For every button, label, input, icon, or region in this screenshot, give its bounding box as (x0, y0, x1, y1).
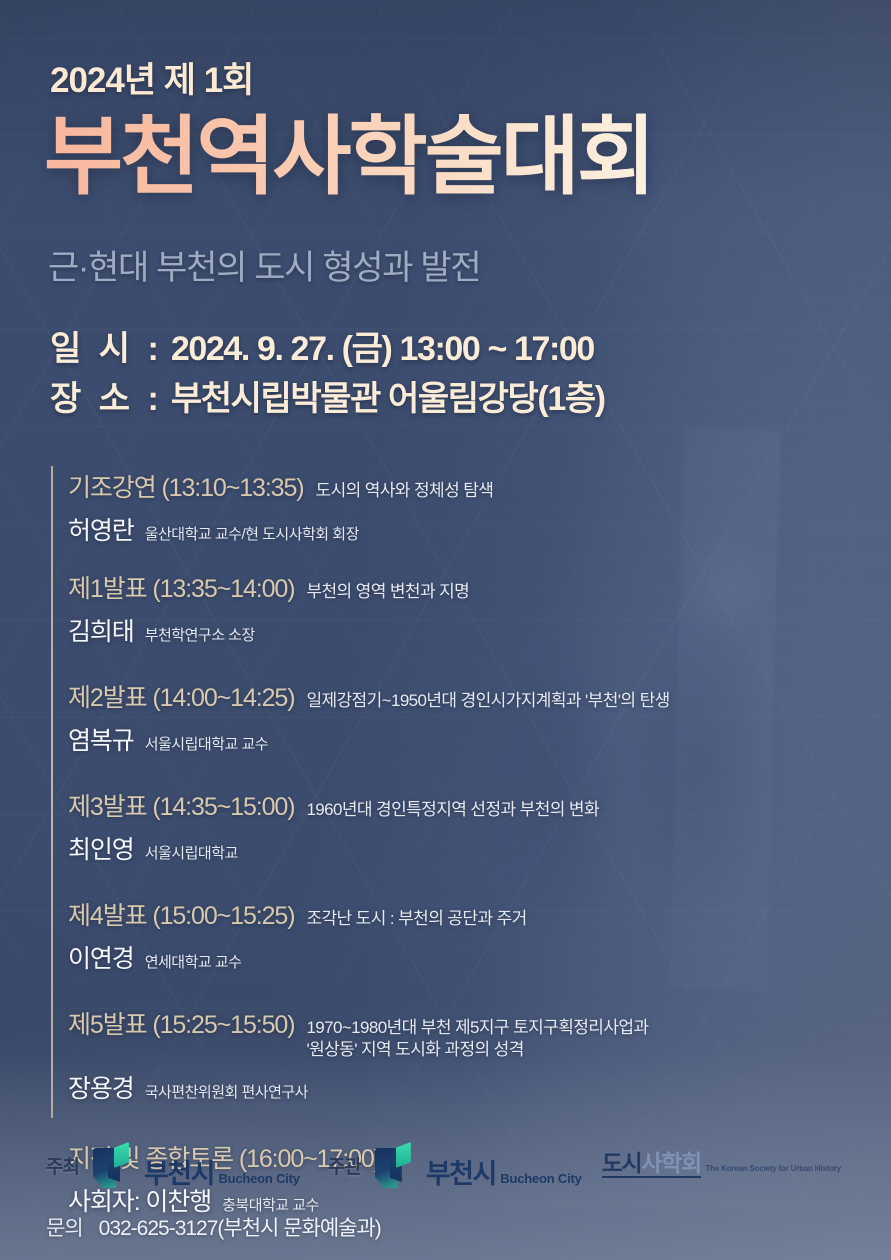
program-item-speaker: 장용경 국사편찬위원회 편사연구사 (68, 1069, 768, 1105)
speaker-affiliation: 국사편찬위원회 편사연구사 (145, 1081, 308, 1102)
program-item: 제2발표 (14:00~14:25) 일제강점기~1950년대 경인시가지계획과… (68, 678, 768, 757)
program-item-speaker: 김희태 부천학연구소 소장 (68, 612, 768, 648)
program-item-speaker: 최인영 서울시립대학교 (68, 830, 768, 866)
event-meta: 일 시 : 2024. 9. 27. (금) 13:00 ~ 17:00 장 소… (50, 325, 605, 424)
bucheon-city-logo-english: Bucheon City (218, 1171, 299, 1186)
speaker-name: 허영란 (68, 511, 134, 547)
program-item: 제1발표 (13:35~14:00) 부천의 영역 변천과 지명 김희태 부천학… (68, 569, 768, 648)
program-item-topic: 조각난 도시 : 부천의 공단과 주거 (306, 908, 526, 930)
program-item-session: 제1발표 (13:35~14:00) (68, 569, 294, 605)
program-item-session: 제4발표 (15:00~15:25) (68, 896, 294, 932)
program-item-header: 기조강연 (13:10~13:35) 도시의 역사와 정체성 탐색 (68, 468, 768, 504)
bucheon-city-mark-icon (375, 1142, 417, 1188)
event-poster: 2024년 제 1회 부천역사학술대회 근·현대 부천의 도시 형성과 발전 일… (0, 0, 891, 1260)
program-item: 기조강연 (13:10~13:35) 도시의 역사와 정체성 탐색 허영란 울산… (68, 468, 768, 547)
program-item-header: 제2발표 (14:00~14:25) 일제강점기~1950년대 경인시가지계획과… (68, 678, 768, 714)
poster-footer: 주최 부천시 Bucheon City 주관 (0, 1128, 891, 1260)
event-venue-value: 부천시립박물관 어울림강당(1층) (171, 380, 605, 418)
program-item-header: 제4발표 (15:00~15:25) 조각난 도시 : 부천의 공단과 주거 (68, 896, 768, 932)
program-item-topic: 도시의 역사와 정체성 탐색 (316, 480, 494, 502)
contact-phone: 032-625-3127(부천시 문화예술과) (99, 1212, 381, 1242)
program-item: 제4발표 (15:00~15:25) 조각난 도시 : 부천의 공단과 주거 이… (68, 896, 768, 975)
event-venue-label: 장 소 : (50, 380, 163, 418)
edition-label: 2024년 제 1회 (50, 52, 253, 103)
society-logo-korean: 도시사학회 (602, 1152, 701, 1178)
program-item-speaker: 허영란 울산대학교 교수/현 도시사학회 회장 (68, 511, 768, 547)
host-label: 주최 (46, 1152, 79, 1179)
program-item: 제5발표 (15:25~15:50) 1970~1980년대 부천 제5지구 토… (68, 1005, 768, 1105)
speaker-name: 김희태 (68, 612, 134, 648)
speaker-affiliation: 연세대학교 교수 (145, 951, 242, 972)
poster-content: 2024년 제 1회 부천역사학술대회 근·현대 부천의 도시 형성과 발전 일… (0, 0, 891, 1260)
page-title: 부천역사학술대회 (44, 112, 653, 202)
urban-history-society-logo: 도시사학회 The Korean Society for Urban Histo… (602, 1152, 841, 1178)
program-item-topic: 1960년대 경인특정지역 선정과 부천의 변화 (306, 799, 599, 821)
program-vertical-rule (51, 466, 53, 1118)
organizer-row: 주최 부천시 Bucheon City 주관 (46, 1142, 841, 1188)
program-item-topic: 일제강점기~1950년대 경인시가지계획과 '부천'의 탄생 (306, 690, 669, 712)
speaker-affiliation: 서울시립대학교 (145, 842, 238, 863)
program-item-speaker: 염복규 서울시립대학교 교수 (68, 721, 768, 757)
program-item-session: 제5발표 (15:25~15:50) (68, 1005, 294, 1041)
program-item-session: 기조강연 (13:10~13:35) (68, 468, 304, 504)
speaker-name: 최인영 (68, 830, 134, 866)
program-item-session: 제3발표 (14:35~15:00) (68, 787, 294, 823)
speaker-name: 염복규 (68, 721, 134, 757)
society-logo-english: The Korean Society for Urban History (705, 1164, 841, 1173)
bucheon-city-mark-icon (93, 1142, 135, 1188)
bucheon-city-logo-korean: 부천시 (144, 1159, 214, 1189)
program-item-header: 제3발표 (14:35~15:00) 1960년대 경인특정지역 선정과 부천의… (68, 787, 768, 823)
event-venue-line: 장 소 : 부천시립박물관 어울림강당(1층) (50, 375, 605, 425)
program-item-session: 제2발표 (14:00~14:25) (68, 678, 294, 714)
event-datetime-label: 일 시 : (50, 330, 163, 368)
event-datetime-value: 2024. 9. 27. (금) 13:00 ~ 17:00 (171, 330, 594, 368)
speaker-affiliation: 울산대학교 교수/현 도시사학회 회장 (145, 523, 359, 544)
program-item: 제3발표 (14:35~15:00) 1960년대 경인특정지역 선정과 부천의… (68, 787, 768, 866)
bucheon-city-logo-english: Bucheon City (500, 1171, 581, 1186)
bucheon-city-logo-text: 부천시 Bucheon City (144, 1161, 300, 1188)
organizer-label: 주관 (328, 1152, 361, 1179)
bucheon-city-logo-organizer: 부천시 Bucheon City (375, 1142, 582, 1188)
speaker-affiliation: 서울시립대학교 교수 (145, 733, 268, 754)
program-item-header: 제1발표 (13:35~14:00) 부천의 영역 변천과 지명 (68, 569, 768, 605)
bucheon-city-logo-korean: 부천시 (426, 1159, 496, 1189)
speaker-name: 장용경 (68, 1069, 134, 1105)
program-item-speaker: 이연경 연세대학교 교수 (68, 939, 768, 975)
program-item-header: 제5발표 (15:25~15:50) 1970~1980년대 부천 제5지구 토… (68, 1005, 768, 1062)
bucheon-city-logo-text: 부천시 Bucheon City (426, 1161, 582, 1188)
contact-row: 문의 032-625-3127(부천시 문화예술과) (46, 1212, 381, 1242)
program-schedule: 기조강연 (13:10~13:35) 도시의 역사와 정체성 탐색 허영란 울산… (68, 468, 768, 1218)
poster-subtitle: 근·현대 부천의 도시 형성과 발전 (48, 240, 480, 289)
speaker-name: 이연경 (68, 939, 134, 975)
speaker-affiliation: 부천학연구소 소장 (145, 624, 255, 645)
program-item-topic: 부천의 영역 변천과 지명 (306, 581, 469, 603)
contact-label: 문의 (46, 1212, 83, 1242)
event-datetime-line: 일 시 : 2024. 9. 27. (금) 13:00 ~ 17:00 (50, 325, 605, 375)
bucheon-city-logo-host: 부천시 Bucheon City (93, 1142, 300, 1188)
program-item-topic: 1970~1980년대 부천 제5지구 토지구획정리사업과 '원상동' 지역 도… (306, 1017, 648, 1062)
